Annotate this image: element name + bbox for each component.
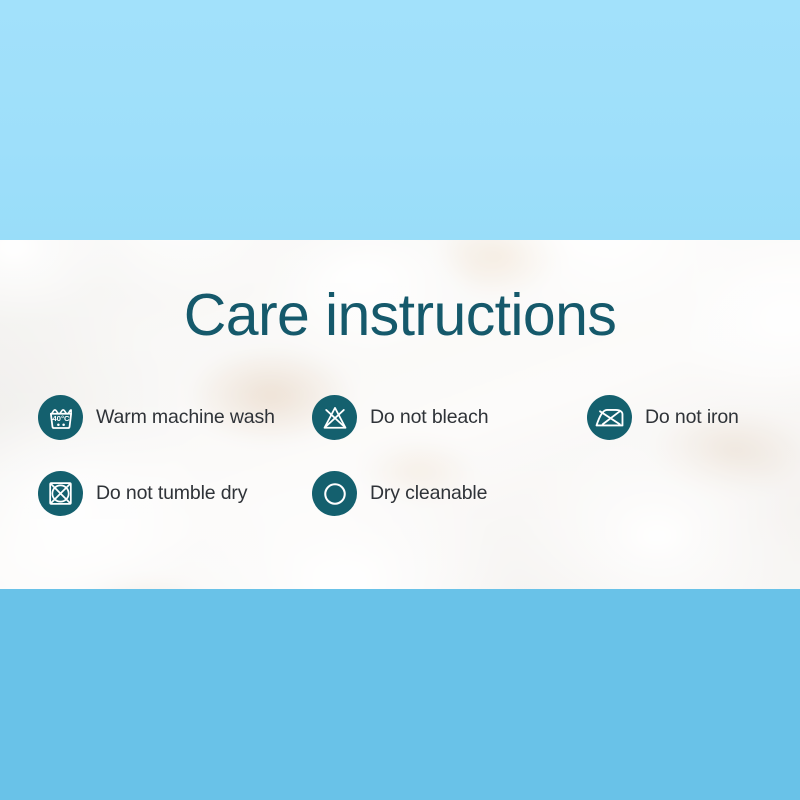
- svg-text:40°C: 40°C: [52, 414, 70, 423]
- care-item-label: Dry cleanable: [370, 482, 487, 505]
- crossed-iron-icon: [587, 395, 632, 440]
- bottom-blue-band: [0, 589, 800, 800]
- care-card: Care instructions 40°: [0, 240, 800, 589]
- care-item-do-not-tumble-dry[interactable]: Do not tumble dry: [38, 471, 247, 516]
- care-item-label: Do not tumble dry: [96, 482, 247, 505]
- wash-tub-40c-icon: 40°C: [38, 395, 83, 440]
- care-item-do-not-iron[interactable]: Do not iron: [587, 395, 739, 440]
- care-item-label: Do not bleach: [370, 406, 488, 429]
- care-symbol-grid: 40°C Warm machine wash: [0, 395, 800, 547]
- care-symbol-row-2: Do not tumble dry Dry cleanable: [0, 471, 800, 547]
- care-item-dry-cleanable[interactable]: Dry cleanable: [312, 471, 487, 516]
- dry-clean-circle-icon: [312, 471, 357, 516]
- care-item-label: Warm machine wash: [96, 406, 275, 429]
- care-instructions-banner: Care instructions 40°: [0, 0, 800, 800]
- care-symbol-row-1: 40°C Warm machine wash: [0, 395, 800, 471]
- crossed-tumble-dry-icon: [38, 471, 83, 516]
- care-item-do-not-bleach[interactable]: Do not bleach: [312, 395, 488, 440]
- care-item-warm-machine-wash[interactable]: 40°C Warm machine wash: [38, 395, 275, 440]
- top-blue-band: [0, 0, 800, 240]
- page-title: Care instructions: [0, 286, 800, 345]
- care-item-label: Do not iron: [645, 406, 739, 429]
- crossed-triangle-icon: [312, 395, 357, 440]
